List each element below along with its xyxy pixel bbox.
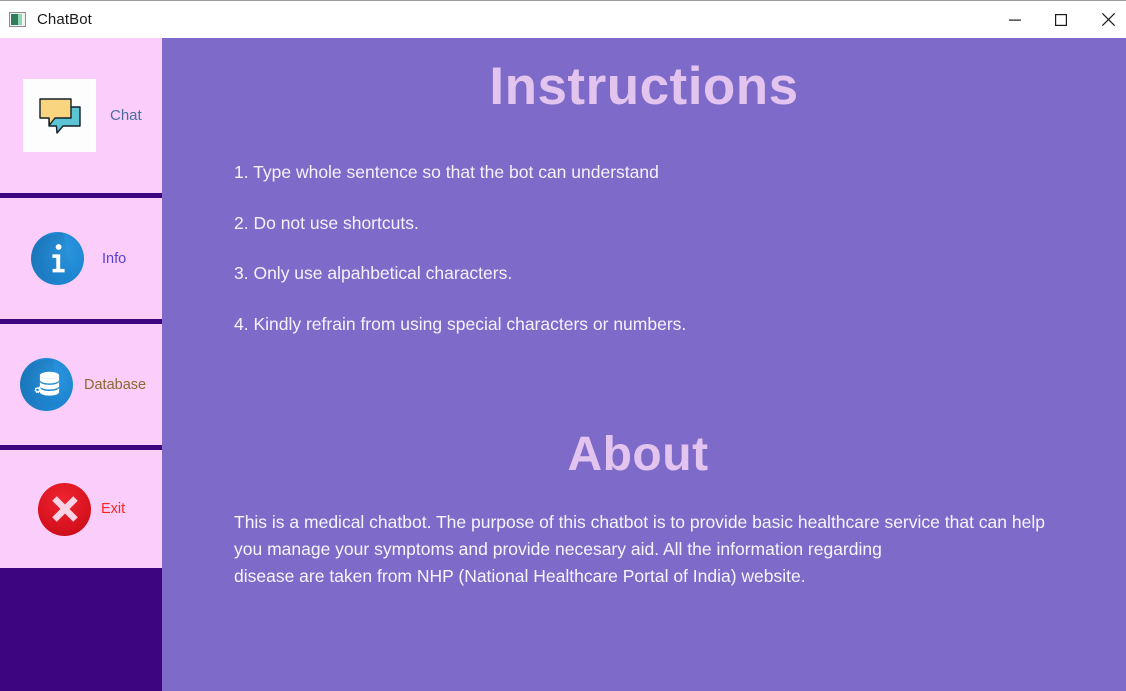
sidebar-item-exit[interactable]: Exit (0, 450, 162, 568)
instruction-item: 3. Only use alpahbetical characters. (234, 265, 1084, 283)
instruction-item: 1. Type whole sentence so that the bot c… (234, 164, 1084, 182)
chatbot-application-window: ChatBot (0, 0, 1126, 691)
about-paragraph: This is a medical chatbot. The purpose o… (234, 514, 1064, 595)
minimize-button[interactable] (992, 1, 1038, 39)
sidebar-item-label-info: Info (102, 251, 126, 267)
app-window-icon (9, 12, 26, 27)
about-line: you manage your symptoms and provide nec… (234, 541, 1064, 559)
chat-bubbles-icon (23, 79, 96, 152)
sidebar-item-chat[interactable]: Chat (0, 38, 162, 193)
sidebar-item-info[interactable]: Info (0, 198, 162, 319)
sidebar: Chat Info (0, 38, 162, 691)
close-icon (1102, 13, 1115, 26)
window-controls (992, 1, 1126, 39)
sidebar-item-label-chat: Chat (110, 107, 142, 124)
maximize-icon (1055, 14, 1067, 26)
titlebar-left-group: ChatBot (0, 11, 992, 28)
sidebar-divider (0, 568, 162, 573)
minimize-icon (1009, 14, 1021, 26)
window-title: ChatBot (37, 11, 92, 28)
main-content-panel: Instructions 1. Type whole sentence so t… (162, 38, 1126, 691)
sidebar-item-database[interactable]: Database (0, 324, 162, 445)
window-body: Chat Info (0, 38, 1126, 691)
instruction-item: 2. Do not use shortcuts. (234, 215, 1084, 233)
instruction-item: 4. Kindly refrain from using special cha… (234, 316, 1084, 334)
about-line: This is a medical chatbot. The purpose o… (234, 514, 1064, 532)
instructions-list: 1. Type whole sentence so that the bot c… (234, 164, 1084, 366)
titlebar: ChatBot (0, 0, 1126, 38)
instructions-heading: Instructions (162, 56, 1126, 117)
maximize-button[interactable] (1038, 1, 1084, 39)
about-line: disease are taken from NHP (National Hea… (234, 568, 1064, 586)
sidebar-item-label-database: Database (84, 377, 146, 393)
sidebar-item-label-exit: Exit (101, 501, 125, 517)
about-heading: About (162, 427, 1126, 482)
database-gear-icon (20, 358, 73, 411)
close-button[interactable] (1084, 1, 1126, 39)
info-circle-icon (31, 232, 84, 285)
close-circle-icon (38, 483, 91, 536)
